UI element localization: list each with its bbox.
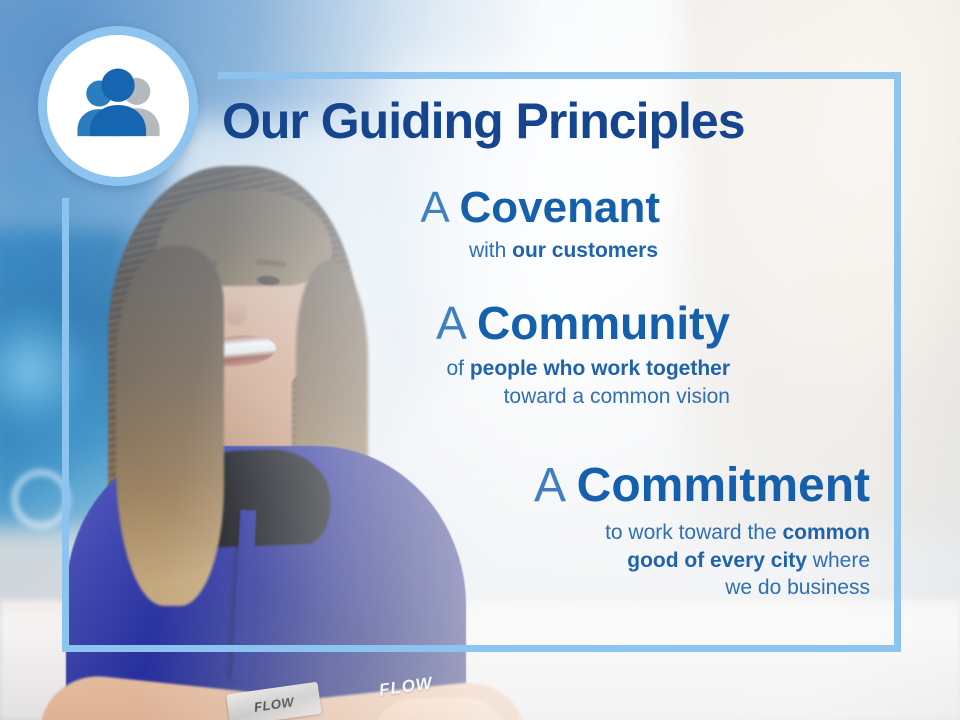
principle-covenant: A Covenant with our customers [260, 186, 660, 265]
principle-community-sub-bold: people who work together [470, 357, 730, 380]
principle-covenant-subtext: with our customers [260, 237, 660, 265]
principle-covenant-article: A [420, 183, 459, 232]
guiding-principles-graphic: FLOW FLOW [0, 0, 960, 720]
group-of-people-icon [66, 54, 170, 158]
principle-commitment-sub-lead: to work toward the [605, 521, 782, 544]
principle-community-sub-line2: toward a common vision [504, 385, 730, 408]
principle-community-heading: A Community [300, 300, 730, 347]
principle-commitment-subtext: to work toward the common good of every … [360, 519, 870, 602]
principle-community-article: A [436, 297, 477, 349]
people-icon-badge [38, 26, 198, 186]
principle-commitment-sub-line3: we do business [725, 576, 870, 599]
principle-covenant-sub-bold: our customers [512, 239, 658, 262]
principle-covenant-sub-lead: with [469, 239, 512, 262]
principle-community-subtext: of people who work together toward a com… [300, 355, 730, 410]
principle-community-word: Community [477, 297, 730, 349]
principle-community-sub-lead: of [446, 357, 469, 380]
principle-commitment-sub-bold: common [782, 521, 870, 544]
page-title: Our Guiding Principles [222, 96, 882, 146]
principle-commitment-word: Commitment [577, 459, 870, 512]
principle-community: A Community of people who work together … [300, 300, 730, 410]
principle-commitment: A Commitment to work toward the common g… [360, 462, 870, 602]
principle-commitment-sub-line2-bold: good of every city [627, 549, 807, 572]
principle-commitment-article: A [534, 459, 577, 512]
principle-commitment-heading: A Commitment [360, 462, 870, 511]
principle-covenant-heading: A Covenant [260, 186, 660, 231]
principle-covenant-word: Covenant [460, 183, 660, 232]
principle-commitment-sub-line2-tail: where [807, 549, 870, 572]
